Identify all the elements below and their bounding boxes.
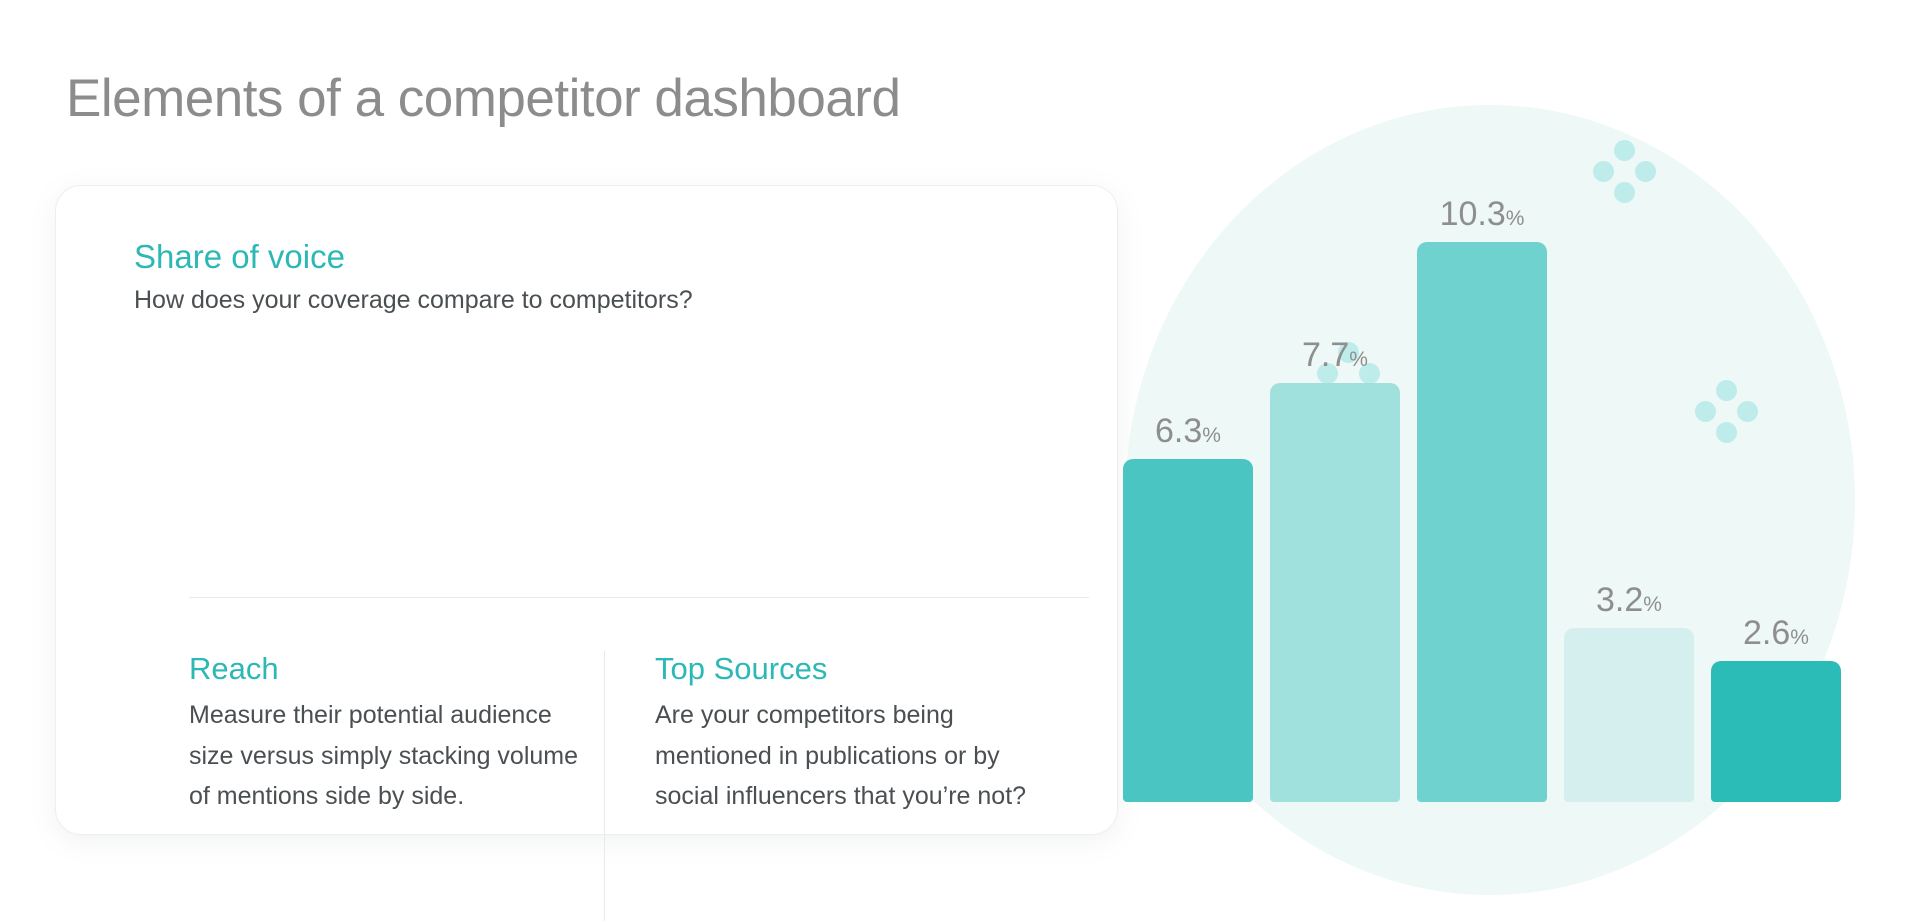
bar-chart: 6.3%7.7%10.3%3.2%2.6%	[1105, 90, 1920, 924]
bar-value-number: 2.6	[1743, 614, 1790, 652]
bar-value-percent-sign: %	[1202, 424, 1221, 447]
bar-value-label: 3.2%	[1564, 581, 1694, 620]
bar-value-label: 7.7%	[1270, 336, 1400, 375]
top-sources-body: Are your competitors being mentioned in …	[655, 695, 1055, 817]
bar	[1417, 242, 1547, 802]
slide-canvas: Elements of a competitor dashboard Share…	[0, 0, 1920, 924]
bar-value-percent-sign: %	[1790, 626, 1809, 649]
page-title: Elements of a competitor dashboard	[66, 68, 900, 129]
share-of-voice-description: How does your coverage compare to compet…	[134, 286, 1039, 315]
bar-group: 2.6%	[1711, 601, 1841, 802]
bar-group: 10.3%	[1417, 182, 1547, 802]
bar-value-label: 6.3%	[1123, 412, 1253, 451]
reach-body: Measure their potential audience size ve…	[189, 695, 589, 817]
bar	[1270, 383, 1400, 802]
bar	[1564, 628, 1694, 802]
bar-value-number: 6.3	[1155, 412, 1202, 450]
bar-value-number: 10.3	[1440, 195, 1506, 233]
card-divider	[189, 597, 1089, 598]
card-columns: Reach Measure their potential audience s…	[189, 651, 1069, 921]
bar-group: 6.3%	[1123, 399, 1253, 802]
bar-value-percent-sign: %	[1349, 348, 1368, 371]
share-of-voice-block: Share of voice How does your coverage co…	[134, 238, 1039, 315]
bar	[1123, 459, 1253, 802]
bar-value-label: 2.6%	[1711, 614, 1841, 653]
bar	[1711, 661, 1841, 802]
column-reach: Reach Measure their potential audience s…	[189, 651, 604, 817]
reach-heading: Reach	[189, 651, 604, 687]
top-sources-heading: Top Sources	[655, 651, 1069, 687]
column-top-sources: Top Sources Are your competitors being m…	[604, 651, 1069, 921]
bar-value-number: 3.2	[1596, 581, 1643, 619]
bar-value-percent-sign: %	[1643, 593, 1662, 616]
bar-group: 3.2%	[1564, 568, 1694, 802]
bar-series: 6.3%7.7%10.3%3.2%2.6%	[1105, 90, 1920, 924]
elements-card: Share of voice How does your coverage co…	[55, 185, 1118, 835]
bar-group: 7.7%	[1270, 323, 1400, 802]
share-of-voice-heading: Share of voice	[134, 238, 1039, 276]
bar-value-number: 7.7	[1302, 336, 1349, 374]
bar-value-label: 10.3%	[1417, 195, 1547, 234]
bar-value-percent-sign: %	[1506, 207, 1525, 230]
